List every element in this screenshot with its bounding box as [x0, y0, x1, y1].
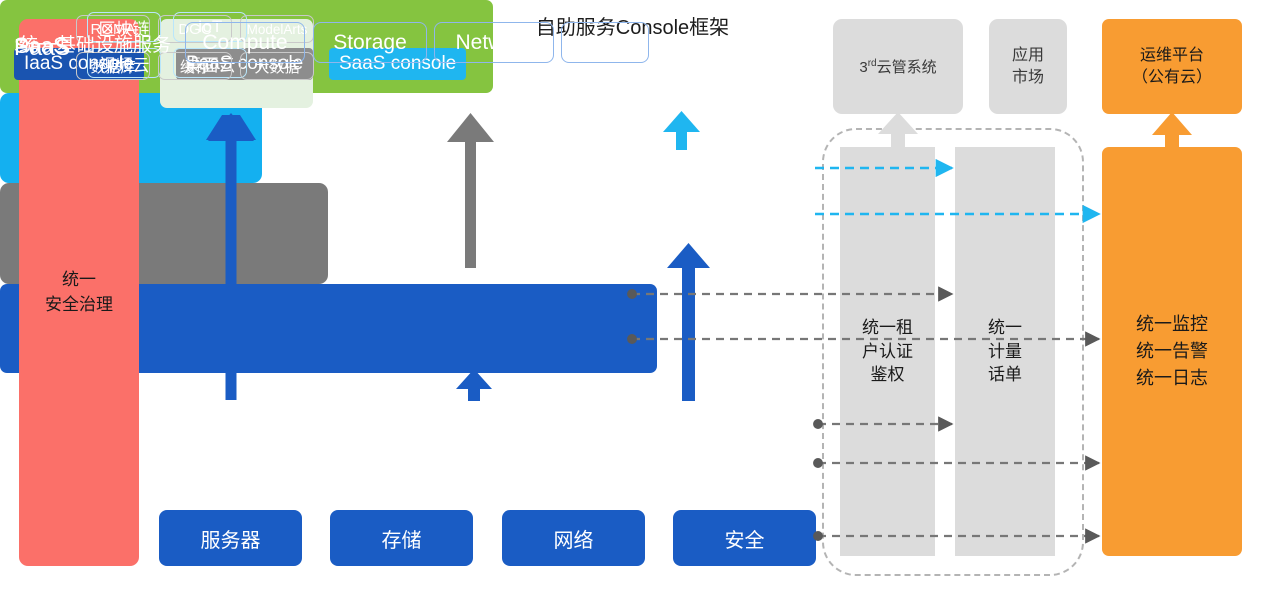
shared-metering-line2: 计量 [988, 340, 1022, 364]
shared-metering-line1: 统一 [988, 316, 1022, 340]
resource-box-storage-label: 存储 [382, 524, 422, 553]
iaas-chip-network-label: Network [455, 31, 532, 55]
iaas-chip-compute[interactable]: Compute [185, 22, 305, 63]
arrow-saas-to-console [663, 111, 700, 150]
arrow-iaas-to-paas [456, 369, 492, 401]
resource-box-server[interactable]: 服务器 [159, 510, 302, 566]
third-party-cloud-management-label: 3rd云管系统 [859, 56, 936, 77]
iaas-chip-network[interactable]: Network [434, 22, 554, 63]
iaas-chip-storage-label: Storage [333, 31, 407, 55]
app-market-box: 应用 市场 [989, 19, 1067, 114]
ops-column-line1: 统一监控 [1136, 311, 1208, 338]
resource-box-network[interactable]: 网络 [502, 510, 645, 566]
resource-box-security-label: 安全 [725, 524, 765, 553]
shared-auth-column: 统一租 户认证 鉴权 [840, 147, 935, 556]
security-governance-column: 统一 安全治理 [19, 19, 139, 566]
resource-box-storage[interactable]: 存储 [330, 510, 473, 566]
security-governance-line2: 安全治理 [45, 293, 113, 318]
ops-column-line2: 统一告警 [1136, 338, 1208, 365]
app-market-line2: 市场 [1012, 67, 1044, 89]
iaas-chip-compute-label: Compute [202, 31, 287, 55]
shared-auth-line2: 户认证 [862, 340, 913, 364]
arrow-ops-column-to-ops-platform [1152, 112, 1192, 149]
shared-auth-line1: 统一租 [862, 316, 913, 340]
paas-chip-database-label: 数据库 [90, 56, 135, 77]
arrow-paas-to-console [447, 113, 494, 268]
iaas-chip-cce[interactable]: CCE [561, 22, 649, 63]
ops-platform-line1: 运维平台 [1132, 45, 1212, 67]
resource-box-security[interactable]: 安全 [673, 510, 816, 566]
third-party-cloud-management-box: 3rd云管系统 [833, 19, 963, 114]
ops-platform-line2: （公有云） [1132, 67, 1212, 89]
iaas-chip-cce-label: CCE [583, 31, 627, 55]
resource-box-network-label: 网络 [554, 524, 594, 553]
shared-metering-line3: 话单 [988, 363, 1022, 387]
ops-column-line3: 统一日志 [1136, 365, 1208, 392]
arrow-iaas-to-saas [667, 243, 710, 401]
resource-box-server-label: 服务器 [201, 524, 261, 553]
shared-auth-line3: 鉴权 [862, 363, 913, 387]
ops-platform-public-cloud-box: 运维平台 （公有云） [1102, 19, 1242, 114]
ops-monitoring-column: 统一监控 统一告警 统一日志 [1102, 147, 1242, 556]
app-market-line1: 应用 [1012, 45, 1044, 67]
iaas-layer-label: 统一基础设施服务 [19, 30, 171, 57]
security-governance-line1: 统一 [45, 268, 113, 293]
iaas-chip-storage[interactable]: Storage [313, 22, 427, 63]
shared-metering-column: 统一 计量 话单 [955, 147, 1055, 556]
architecture-diagram: 统一 安全治理 API网关 自助服务Console框架 IaaS console… [0, 0, 1265, 605]
